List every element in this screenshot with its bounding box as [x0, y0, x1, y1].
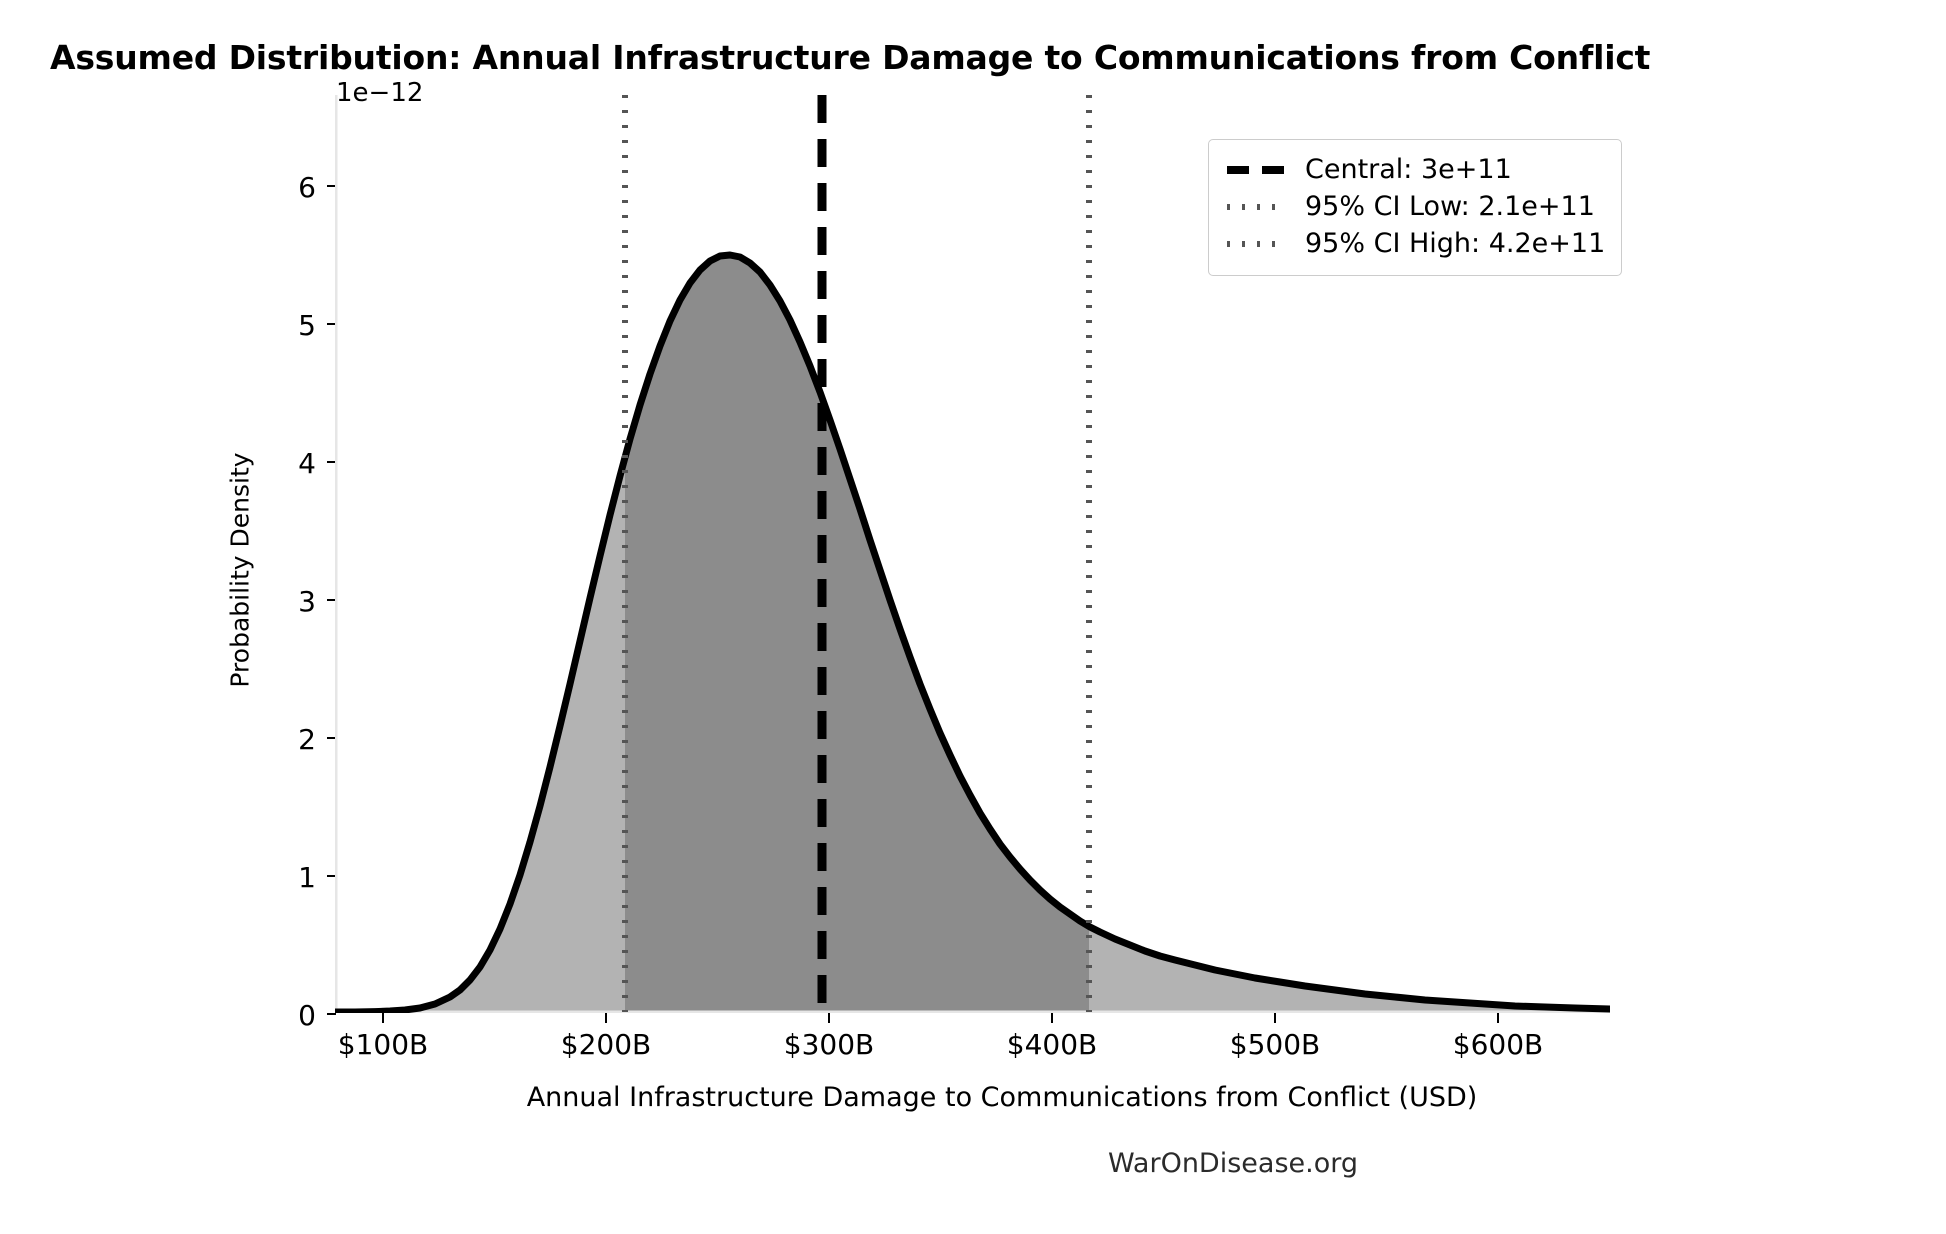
- dotted-line-icon: [1225, 197, 1287, 217]
- legend-label-central: Central: 3e+11: [1305, 154, 1512, 185]
- x-tick-mark-1: [605, 1013, 607, 1023]
- y-tick-label-4: 4: [298, 447, 316, 480]
- y-axis-label-text: Probability Density: [226, 452, 255, 687]
- y-tick-label-5: 5: [298, 309, 316, 342]
- chart-figure: Assumed Distribution: Annual Infrastruct…: [0, 0, 1946, 1234]
- x-tick-label-500b: $500B: [1230, 1028, 1320, 1061]
- legend-item-ci-low: 95% CI Low: 2.1e+11: [1225, 188, 1605, 225]
- y-tick-label-1: 1: [298, 861, 316, 894]
- x-tick-label-100b: $100B: [338, 1028, 428, 1061]
- watermark-text: WarOnDisease.org: [1108, 1148, 1358, 1179]
- x-tick-label-400b: $400B: [1007, 1028, 1097, 1061]
- x-tick-label-200b: $200B: [561, 1028, 651, 1061]
- chart-legend: Central: 3e+11 95% CI Low: 2.1e+11 95% C…: [1208, 139, 1622, 276]
- legend-label-ci-high: 95% CI High: 4.2e+11: [1305, 228, 1605, 259]
- y-tick-label-6: 6: [298, 171, 316, 204]
- x-tick-mark-4: [1274, 1013, 1276, 1023]
- x-tick-label-300b: $300B: [784, 1028, 874, 1061]
- y-tick-mark-0: [327, 1013, 336, 1015]
- watermark: WarOnDisease.org: [0, 1148, 1946, 1179]
- x-tick-mark-2: [828, 1013, 830, 1023]
- legend-item-ci-high: 95% CI High: 4.2e+11: [1225, 225, 1605, 262]
- y-tick-label-3: 3: [298, 585, 316, 618]
- chart-title: Assumed Distribution: Annual Infrastruct…: [50, 38, 1900, 77]
- x-axis-label-text: Annual Infrastructure Damage to Communic…: [469, 1082, 1478, 1113]
- dotted-line-icon: [1225, 234, 1287, 254]
- x-tick-label-600b: $600B: [1453, 1028, 1543, 1061]
- x-axis-label: Annual Infrastructure Damage to Communic…: [0, 1082, 1946, 1113]
- y-axis-label: Probability Density: [225, 420, 255, 720]
- x-tick-mark-3: [1051, 1013, 1053, 1023]
- legend-label-ci-low: 95% CI Low: 2.1e+11: [1305, 191, 1595, 222]
- legend-item-central: Central: 3e+11: [1225, 151, 1605, 188]
- y-tick-label-2: 2: [298, 723, 316, 756]
- y-tick-label-0: 0: [298, 999, 316, 1032]
- x-tick-mark-5: [1497, 1013, 1499, 1023]
- x-tick-mark-0: [382, 1013, 384, 1023]
- dashed-line-icon: [1225, 160, 1287, 180]
